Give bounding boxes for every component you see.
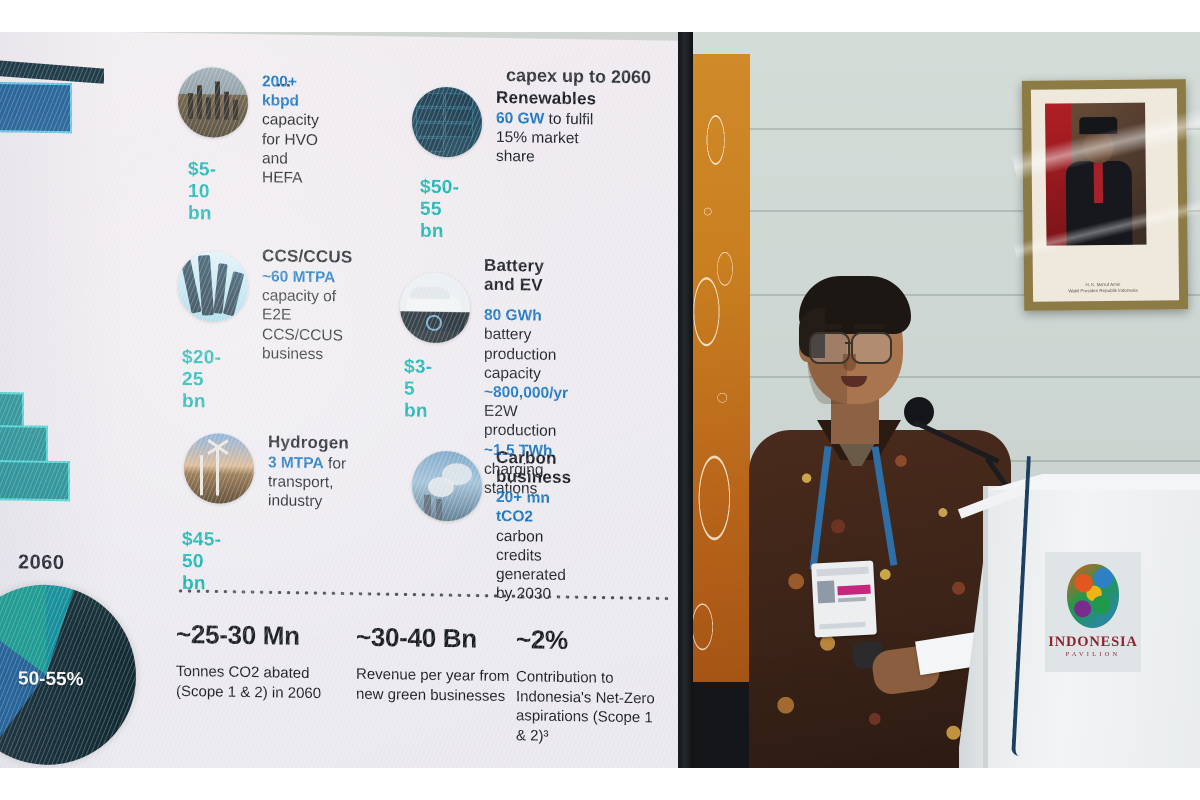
renewables-title: Renewables: [496, 88, 596, 109]
chart-dark-header-bar: [0, 55, 104, 84]
badge-subline: [838, 597, 866, 602]
globe-icon: [1067, 564, 1119, 628]
stat-revenue-value: ~30-40 Bn: [356, 622, 516, 656]
hydrogen-cost: $45-50 bn: [182, 529, 221, 596]
room-background: H. K. Ma'ruf Amin Wakil Presiden Republi…: [685, 32, 1200, 768]
battery-ev-desc: battery production capacity: [484, 326, 556, 382]
carbon-title: Carbon business: [496, 448, 571, 487]
peci-cap-icon: [1079, 117, 1117, 134]
stat-co2-abated: ~25-30 Mn Tonnes CO2 abated (Scope 1 & 2…: [176, 619, 356, 704]
badge-header-band: [816, 567, 868, 577]
badge-photo: [817, 580, 835, 603]
stat-net-zero-label: Contribution to Indonesia's Net-Zero asp…: [516, 667, 666, 747]
ev-charging-icon: [400, 272, 470, 343]
ccs-desc: capacity of E2E CCS/CCUS business: [262, 287, 343, 363]
pie-label-50-55: 50-55%: [18, 668, 84, 691]
glasses-bridge: [845, 342, 853, 344]
badge-footer-band: [819, 622, 865, 629]
letterbox-bottom: [0, 768, 1200, 800]
ccs-pipes-icon: [178, 251, 248, 322]
conference-badge: [811, 560, 877, 637]
renewables-cost: $50-55 bn: [420, 177, 459, 244]
stat-revenue-label: Revenue per year from new green business…: [356, 665, 516, 707]
eyebrow-left: [811, 324, 843, 329]
conference-photo: 2060 20% 25% 50-55% ... capex up to 2060: [0, 32, 1200, 768]
biofuels-cost: $5-10 bn: [188, 159, 216, 225]
stat-net-zero: ~2% Contribution to Indonesia's Net-Zero…: [516, 624, 666, 747]
nose: [843, 354, 856, 371]
carbon-value: 20+ mn tCO2: [496, 489, 550, 526]
biofuels-value: 200+ kbpd: [262, 73, 299, 110]
podium: INDONESIA PAVILION: [973, 456, 1200, 768]
chart-bar-4: [0, 423, 48, 464]
stat-revenue: ~30-40 Bn Revenue per year from new gree…: [356, 622, 516, 707]
podium-front-edge: [983, 486, 988, 768]
cut-off-text-right: capex up to 2060: [506, 65, 651, 88]
projected-slide: 2060 20% 25% 50-55% ... capex up to 2060: [0, 32, 688, 768]
eyebrow-right: [853, 324, 885, 329]
chart-pie: 20% 25% 50-55%: [0, 583, 136, 766]
slide-content: ... capex up to 2060 200+ kbpd capac: [164, 33, 674, 768]
chart-navy-top-bar: [0, 81, 72, 133]
logo-wordmark: INDONESIA: [1045, 634, 1141, 651]
letterbox-top: [0, 0, 1200, 32]
badge-name-band: [837, 585, 870, 596]
logo-subtitle: PAVILION: [1045, 651, 1141, 658]
portrait-tie: [1094, 163, 1103, 203]
ccs-cost: $20-25 bn: [182, 347, 221, 414]
portrait-caption: H. K. Ma'ruf Amin Wakil Presiden Republi…: [1043, 281, 1163, 296]
renewables-value: 60 GW: [496, 110, 544, 128]
podium-top-surface: [973, 474, 1200, 490]
battery-ev-value: 80 GWh: [484, 307, 542, 325]
stat-net-zero-value: ~2%: [516, 624, 666, 657]
framed-portrait: H. K. Ma'ruf Amin Wakil Presiden Republi…: [1022, 79, 1188, 311]
battery-ev-value2: ~800,000/yr: [484, 384, 568, 402]
refinery-icon: [178, 67, 248, 138]
indonesia-pavilion-logo: INDONESIA PAVILION: [1045, 552, 1141, 672]
ccs-title: CCS/CCUS: [262, 246, 352, 266]
portrait-caption-role: Wakil Presiden Republik Indonesia: [1043, 288, 1163, 296]
chart-bar-3: [0, 390, 24, 428]
portrait-photo: [1045, 103, 1146, 246]
hydrogen-title: Hydrogen: [268, 432, 349, 452]
hydrogen-value: 3 MTPA: [268, 454, 324, 472]
batik-banner: [685, 54, 750, 768]
battery-ev-desc2: E2W production: [484, 403, 556, 440]
biofuels-desc: capacity for HVO and HEFA: [262, 112, 319, 187]
smokestack-icon: [412, 451, 482, 522]
chart-year-label: 2060: [18, 551, 65, 575]
battery-ev-title: Battery and EV: [484, 256, 568, 295]
carbon-desc: carbon credits generated by 2030: [496, 527, 566, 603]
wind-turbine-icon: [184, 433, 254, 504]
dotted-divider: [176, 589, 668, 601]
glasses-lens-right: [851, 332, 892, 364]
slide-chart-column: 2060 20% 25% 50-55%: [0, 55, 128, 758]
solar-panel-icon: [412, 87, 482, 158]
battery-ev-cost: $3-5 bn: [404, 356, 432, 422]
ccs-value: ~60 MTPA: [262, 268, 335, 286]
stat-co2-value: ~25-30 Mn: [176, 619, 356, 653]
stat-co2-label: Tonnes CO2 abated (Scope 1 & 2) in 2060: [176, 662, 356, 704]
screenshot-root: 2060 20% 25% 50-55% ... capex up to 2060: [0, 0, 1200, 800]
projection-screen-bezel: [678, 32, 693, 768]
chart-bar-5: [0, 458, 70, 501]
